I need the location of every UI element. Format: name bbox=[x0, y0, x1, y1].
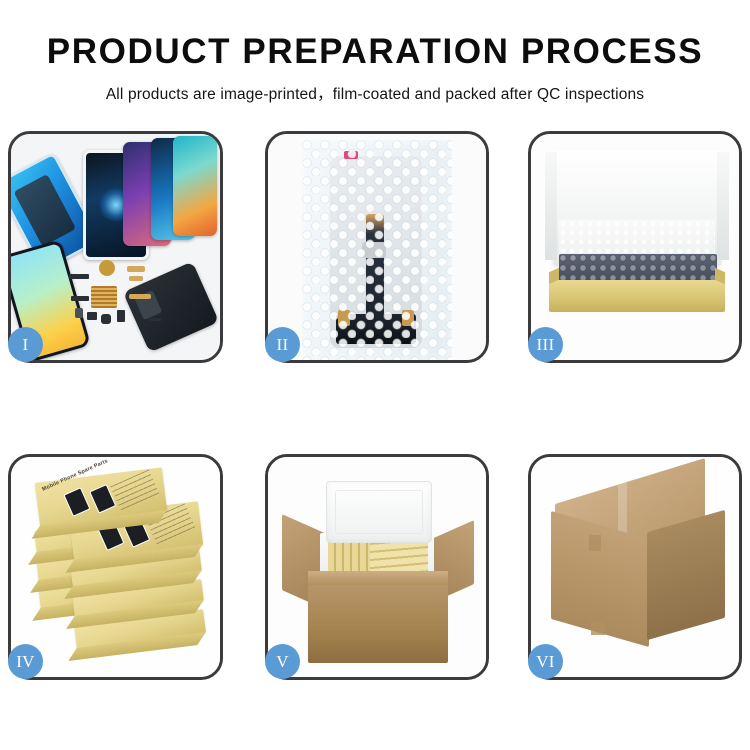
carton-right-face-icon bbox=[647, 510, 725, 640]
step-badge-5: V bbox=[265, 644, 300, 679]
step-badge-6: VI bbox=[528, 644, 563, 679]
part-camera-icon bbox=[101, 314, 111, 324]
process-step-panel-3[interactable]: III bbox=[528, 131, 742, 363]
step-1-illustration bbox=[11, 134, 220, 360]
step-2-illustration bbox=[268, 134, 486, 360]
carton-front-panel-icon bbox=[308, 583, 448, 663]
part-chip-icon bbox=[75, 308, 83, 318]
retail-box-spec-lines-icon bbox=[110, 469, 161, 513]
open-carton-icon bbox=[282, 471, 474, 669]
step-3-illustration bbox=[531, 134, 739, 360]
retail-box-top-icon: Mobile Phone Spare Parts bbox=[35, 467, 167, 526]
step-badge-4: IV bbox=[8, 644, 43, 679]
part-flex-cable-icon bbox=[127, 266, 145, 272]
yellow-tray-box-icon bbox=[549, 280, 725, 312]
process-step-panel-4[interactable]: Mobile Phone Spare Parts Mobile Phone Sp… bbox=[8, 454, 223, 680]
step-badge-2: II bbox=[265, 327, 300, 362]
sealed-carton-icon bbox=[551, 481, 729, 657]
foam-lid-icon bbox=[326, 481, 432, 543]
step-badge-1: I bbox=[8, 327, 43, 362]
retail-box-window-icon bbox=[63, 487, 90, 517]
process-step-grid: I II bbox=[0, 131, 750, 691]
process-step-panel-1[interactable]: I bbox=[8, 131, 223, 363]
part-connector-icon bbox=[71, 296, 89, 301]
part-screw-icon bbox=[149, 318, 161, 321]
part-speaker-icon bbox=[87, 312, 97, 320]
process-step-panel-2[interactable]: II bbox=[265, 131, 489, 363]
carton-tape-lower-icon bbox=[591, 621, 605, 635]
step-badge-3: III bbox=[528, 327, 563, 362]
header: PRODUCT PREPARATION PROCESS All products… bbox=[0, 0, 750, 104]
process-step-panel-6[interactable]: VI bbox=[528, 454, 742, 680]
part-mesh-grid-icon bbox=[91, 286, 117, 308]
step-6-illustration bbox=[531, 457, 739, 677]
small-spare-parts-group bbox=[69, 260, 173, 336]
part-home-button-icon bbox=[99, 260, 115, 276]
part-bracket-icon bbox=[69, 274, 89, 279]
step-5-illustration bbox=[268, 457, 486, 677]
bubble-texture-overlay bbox=[302, 140, 452, 360]
part-flex-cable-small-icon bbox=[129, 276, 143, 281]
phone-screen-orange-icon bbox=[173, 136, 217, 236]
step-4-illustration: Mobile Phone Spare Parts Mobile Phone Sp… bbox=[11, 457, 220, 677]
retail-box-stack-icon: Mobile Phone Spare Parts Mobile Phone Sp… bbox=[17, 475, 217, 671]
page-subtitle: All products are image-printed，film-coat… bbox=[0, 71, 750, 104]
page-title: PRODUCT PREPARATION PROCESS bbox=[0, 0, 750, 71]
bubble-wrap-bag-icon bbox=[302, 140, 452, 360]
product-preparation-infographic: PRODUCT PREPARATION PROCESS All products… bbox=[0, 0, 750, 750]
part-ribbon-icon bbox=[129, 294, 151, 299]
process-step-panel-5[interactable]: V bbox=[265, 454, 489, 680]
carton-tape-icon bbox=[589, 535, 601, 551]
part-vibrator-icon bbox=[117, 310, 125, 322]
